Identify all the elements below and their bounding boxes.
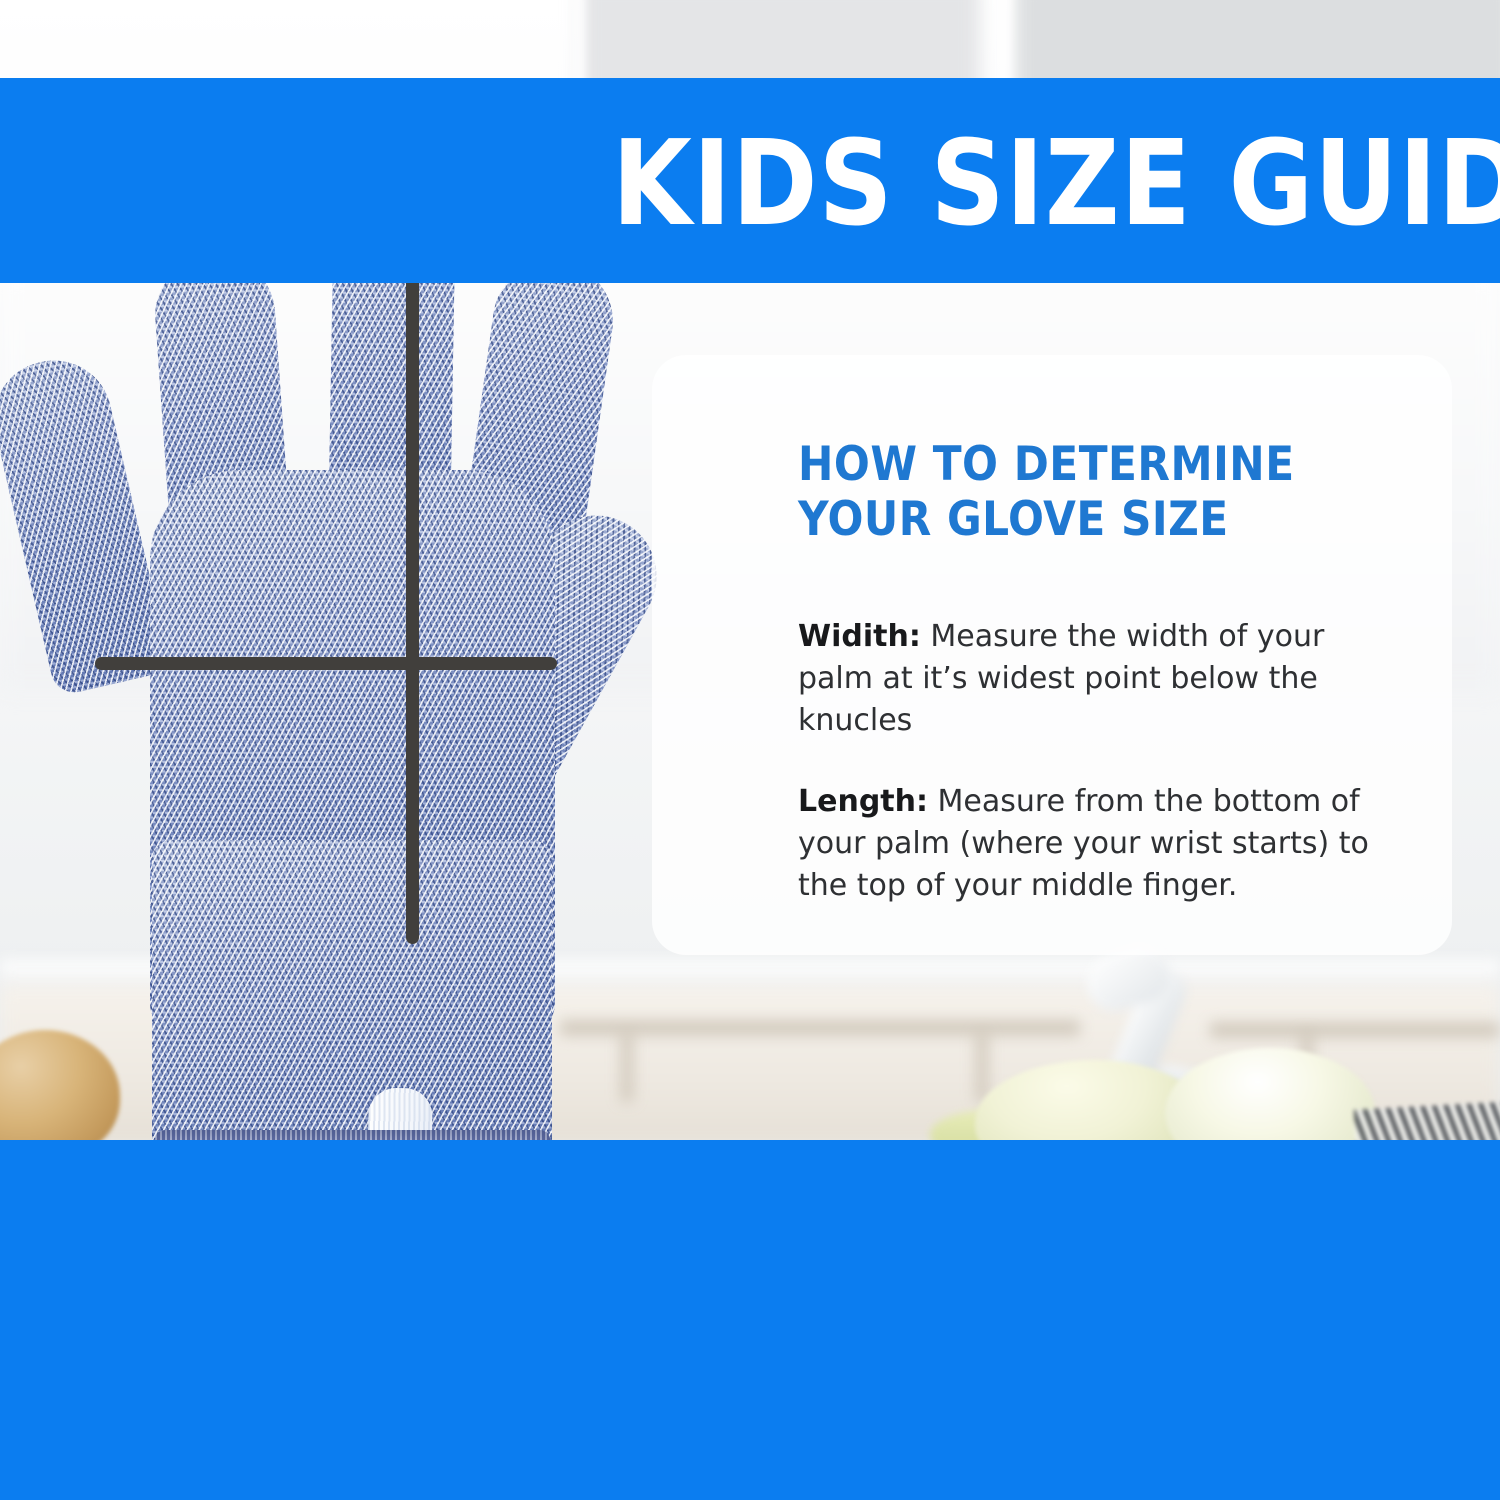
hand-width-measure-line — [95, 657, 557, 670]
info-panel-heading: HOW TO DETERMINE YOUR GLOVE SIZE — [798, 437, 1418, 547]
size-table: SMALL MEDIUM LARGE HAND LENGTH 5.0 - 5.5… — [0, 1140, 1500, 1500]
length-instruction: Length: Measure from the bottom of your … — [798, 781, 1406, 907]
hand-length-measure-line — [406, 184, 419, 944]
length-label: Length: — [798, 784, 928, 819]
glove-lower-palm — [152, 840, 552, 1170]
page-title: KIDS SIZE GUIDE — [612, 108, 1417, 258]
info-panel-heading-line-2: YOUR GLOVE SIZE — [798, 492, 1418, 547]
size-guide-infographic: KIDS SIZE GUIDE HOW TO DETERMINE YOUR GL… — [0, 0, 1500, 1500]
glove-finger-pinky — [0, 349, 172, 697]
shelf-leg-1 — [975, 1032, 989, 1102]
width-instruction: Widith: Measure the width of your palm a… — [798, 616, 1406, 742]
info-panel-heading-line-1: HOW TO DETERMINE — [798, 437, 1418, 492]
width-label: Widith: — [798, 619, 921, 654]
